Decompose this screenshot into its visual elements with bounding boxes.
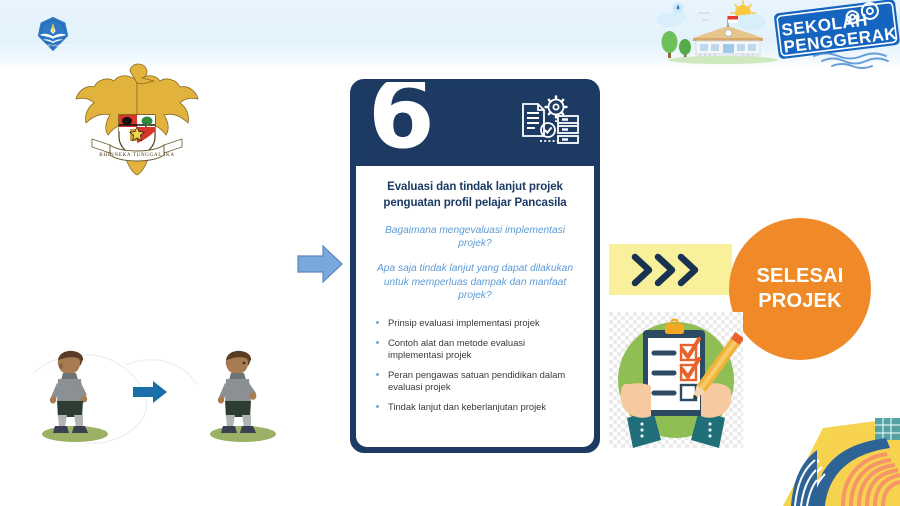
flow-arrow-icon <box>296 243 344 285</box>
step-card: 6 <box>350 79 600 453</box>
card-question-2: Apa saja tindak lanjut yang dapat dilaku… <box>368 262 582 303</box>
step-number: 6 <box>368 79 433 162</box>
garuda-pancasila-icon: BHINNEKA TUNGGAL IKA <box>62 63 212 178</box>
tut-wuri-handayani-icon: TUT WURI HANDAYANI <box>34 15 72 53</box>
badge-line-2: PROJEK <box>758 289 841 314</box>
svg-text:TUT WURI HANDAYANI: TUT WURI HANDAYANI <box>37 43 70 47</box>
list-item: Tindak lanjut dan keberlanjutan projek <box>374 401 580 414</box>
card-question-1: Bagaimana mengevaluasi implementasi proj… <box>368 224 582 251</box>
status-badge: SELESAI PROJEK <box>729 218 871 360</box>
corner-decoration <box>783 418 900 506</box>
sekolah-penggerak-logo: SEKOLAH PENGGERAK <box>648 0 900 70</box>
svg-text:BHINNEKA TUNGGAL IKA: BHINNEKA TUNGGAL IKA <box>99 152 174 158</box>
list-item: Peran pengawas satuan pendidikan dalam e… <box>374 369 580 394</box>
list-item: Prinsip evaluasi implementasi projek <box>374 317 580 330</box>
evaluation-process-icon <box>518 94 582 154</box>
walking-boys-illustration <box>25 335 300 450</box>
card-body: Evaluasi dan tindak lanjut projek pengua… <box>356 166 594 447</box>
list-item: Contoh alat dan metode evaluasi implemen… <box>374 337 580 362</box>
card-header: 6 <box>353 82 597 166</box>
badge-line-1: SELESAI <box>757 264 844 289</box>
card-topic-list: Prinsip evaluasi implementasi projek Con… <box>368 317 582 413</box>
slide-canvas: TUT WURI HANDAYANI <box>0 0 900 506</box>
triple-chevron-right-icon <box>630 252 714 293</box>
checklist-clipboard-icon <box>609 312 743 448</box>
card-title: Evaluasi dan tindak lanjut projek pengua… <box>368 180 582 212</box>
